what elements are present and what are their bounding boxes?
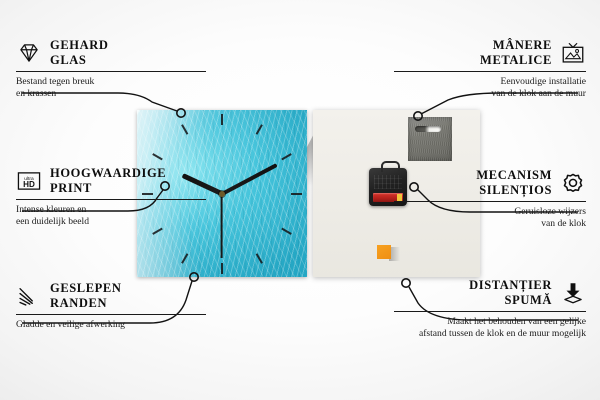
feature-mechanism[interactable]: MECANISM SILENȚIOS Geruisloze wijzers va… bbox=[394, 168, 586, 230]
feature-edges-header: GESLEPEN RANDEN bbox=[16, 281, 206, 311]
clock-tick bbox=[221, 124, 263, 194]
feature-spacer-subtitle: Maakt het behouden van een gelijke afsta… bbox=[394, 316, 586, 340]
hanger-keyhole-slot bbox=[415, 126, 441, 132]
ground-edges-icon bbox=[16, 283, 42, 309]
gear-icon bbox=[560, 170, 586, 196]
feature-print-rule bbox=[16, 199, 206, 200]
feature-glass[interactable]: GEHARD GLAS Bestand tegen breuk en krass… bbox=[16, 38, 206, 100]
feature-mechanism-rule bbox=[394, 201, 586, 202]
feature-hooks-header: MÂNERE METALICE bbox=[394, 38, 586, 68]
feature-print-subtitle: Intense kleuren en een duidelijk beeld bbox=[16, 204, 206, 228]
infographic-canvas: GEHARD GLAS Bestand tegen breuk en krass… bbox=[0, 0, 600, 400]
feature-edges[interactable]: GESLEPEN RANDEN Gladde en veilige afwerk… bbox=[16, 281, 206, 331]
feature-edges-subtitle: Gladde en veilige afwerking bbox=[16, 319, 206, 331]
feature-spacer-title: DISTANȚIER SPUMĂ bbox=[469, 278, 552, 308]
feature-hooks-subtitle: Eenvoudige installatie van de klok aan d… bbox=[394, 76, 586, 100]
feature-glass-subtitle: Bestand tegen breuk en krassen bbox=[16, 76, 206, 100]
feature-print-header: ultra HD HOOGWAARDIGE PRINT bbox=[16, 166, 206, 196]
feature-hooks[interactable]: MÂNERE METALICE Eenvoudige installatie v… bbox=[394, 38, 586, 100]
clock-tick bbox=[221, 194, 223, 274]
diamond-icon bbox=[16, 40, 42, 66]
feature-spacer-header: DISTANȚIER SPUMĂ bbox=[394, 278, 586, 308]
clock-minute-hand bbox=[221, 163, 278, 196]
feature-print[interactable]: ultra HD HOOGWAARDIGE PRINT Intense kleu… bbox=[16, 166, 206, 228]
feature-glass-title: GEHARD GLAS bbox=[50, 38, 108, 68]
feature-spacer[interactable]: DISTANȚIER SPUMĂ Maakt het behouden van … bbox=[394, 278, 586, 340]
feature-edges-rule bbox=[16, 314, 206, 315]
wall-hanger-icon bbox=[560, 40, 586, 66]
feature-mechanism-title: MECANISM SILENȚIOS bbox=[476, 168, 552, 198]
clock-tick bbox=[222, 193, 302, 195]
clock-tick bbox=[222, 193, 292, 235]
feature-mechanism-header: MECANISM SILENȚIOS bbox=[394, 168, 586, 198]
feature-spacer-rule bbox=[394, 311, 586, 312]
feature-hooks-rule bbox=[394, 71, 586, 72]
svg-text:HD: HD bbox=[23, 180, 35, 189]
arrow-into-box-icon bbox=[560, 280, 586, 306]
ultra-hd-icon: ultra HD bbox=[16, 168, 42, 194]
clock-tick bbox=[222, 153, 292, 195]
feature-edges-title: GESLEPEN RANDEN bbox=[50, 281, 122, 311]
clock-tick bbox=[221, 114, 223, 194]
feature-glass-header: GEHARD GLAS bbox=[16, 38, 206, 68]
clock-center-pivot bbox=[219, 191, 225, 197]
feature-hooks-title: MÂNERE METALICE bbox=[480, 38, 552, 68]
metal-hanger-plate bbox=[408, 117, 452, 161]
feature-mechanism-subtitle: Geruisloze wijzers van de klok bbox=[394, 206, 586, 230]
feature-print-title: HOOGWAARDIGE PRINT bbox=[50, 166, 166, 196]
clock-second-hand bbox=[221, 194, 223, 258]
clock-tick bbox=[221, 193, 263, 263]
feature-glass-rule bbox=[16, 71, 206, 72]
foam-spacer bbox=[377, 245, 391, 259]
